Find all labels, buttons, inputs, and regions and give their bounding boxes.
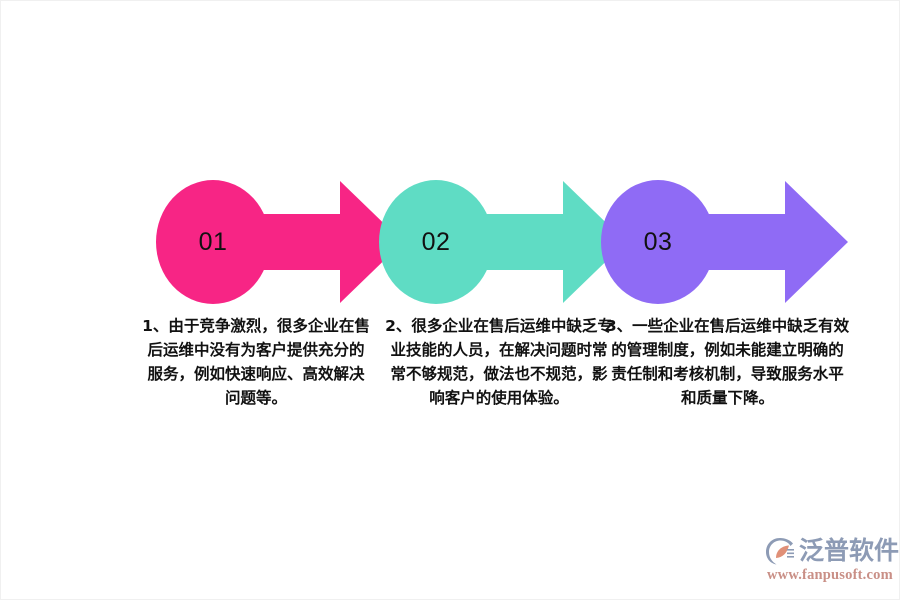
step-number-3: 03 xyxy=(622,178,694,306)
diagram-canvas: 01 02 03 1、由于竞争激烈，很多企业在售后运维中没有为客户提供充分的服务… xyxy=(0,0,900,600)
step-description-3: 3、一些企业在售后运维中缺乏有效的管理制度，例如未能建立明确的责任制和考核机制，… xyxy=(605,314,850,410)
step-description-2: 2、很多企业在售后运维中缺乏专业技能的人员，在解决问题时常常不够规范，做法也不规… xyxy=(383,314,615,410)
step-number-2: 02 xyxy=(400,178,472,306)
process-arrow-row: 01 02 03 xyxy=(0,178,900,306)
process-description-row: 1、由于竞争激烈，很多企业在售后运维中没有为客户提供充分的服务，例如快速响应、高… xyxy=(0,314,900,454)
logo-url-text: www.fanpusoft.com xyxy=(767,567,893,584)
process-step-3[interactable]: 03 xyxy=(600,178,850,306)
process-step-2[interactable]: 02 xyxy=(378,178,628,306)
fanpu-logo-icon xyxy=(765,536,795,566)
brand-logo: 泛普软件 www.fanpusoft.com xyxy=(765,534,893,590)
step-description-1: 1、由于竞争激烈，很多企业在售后运维中没有为客户提供充分的服务，例如快速响应、高… xyxy=(140,314,372,410)
step-number-1: 01 xyxy=(177,178,249,306)
process-step-1[interactable]: 01 xyxy=(155,178,405,306)
logo-main-row: 泛普软件 xyxy=(765,534,899,568)
logo-brand-text: 泛普软件 xyxy=(799,536,899,566)
